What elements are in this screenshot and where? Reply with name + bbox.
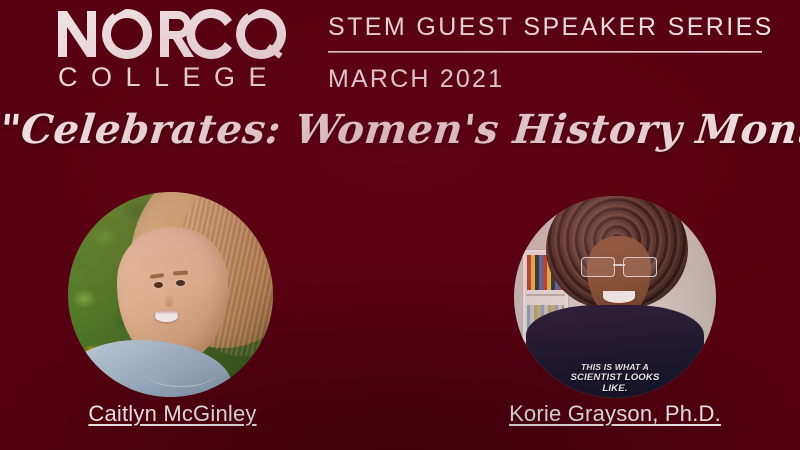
header-block: STEM GUEST SPEAKER SERIES MARCH 2021 xyxy=(328,14,764,93)
lens-right xyxy=(623,257,657,277)
necklace xyxy=(146,359,216,387)
eye-left xyxy=(154,282,163,288)
shelf-divider xyxy=(526,294,565,296)
speaker-photo-korie-grayson: THIS IS WHAT A SCIENTIST LOOKS LIKE. xyxy=(514,196,716,398)
series-title: STEM GUEST SPEAKER SERIES xyxy=(328,14,764,42)
eye-right xyxy=(176,280,185,286)
smile xyxy=(603,291,635,303)
smile xyxy=(155,311,178,322)
eyeglasses xyxy=(581,257,658,275)
speaker-photo-caitlyn-mcginley xyxy=(68,192,273,397)
tshirt-slogan-line-2: SCIENTIST LOOKS xyxy=(526,372,704,383)
eyebrow-left xyxy=(150,273,165,279)
tshirt-slogan-line-3: LIKE. xyxy=(526,383,704,394)
eyebrow-right xyxy=(172,271,188,276)
speaker-name-caitlyn-mcginley: Caitlyn McGinley xyxy=(60,401,285,427)
tagline-part-one: "Celebrates: Women's History Month" xyxy=(0,106,800,153)
glasses-bridge xyxy=(613,264,625,266)
logo-subtitle: COLLEGE xyxy=(56,64,286,91)
norco-wordmark xyxy=(56,8,286,60)
lens-left xyxy=(581,257,615,277)
tagline: "Celebrates: Women's History Month" xyxy=(0,106,800,153)
tshirt: THIS IS WHAT A SCIENTIST LOOKS LIKE. xyxy=(526,305,704,398)
header-divider xyxy=(328,51,762,53)
tshirt-slogan: THIS IS WHAT A SCIENTIST LOOKS LIKE. xyxy=(526,362,704,394)
speaker-name-korie-grayson: Korie Grayson, Ph.D. xyxy=(470,401,760,427)
tshirt-slogan-line-1: THIS IS WHAT A xyxy=(526,362,704,372)
event-flyer-slide: COLLEGE STEM GUEST SPEAKER SERIES MARCH … xyxy=(0,0,800,450)
nose xyxy=(165,294,173,306)
event-date: MARCH 2021 xyxy=(328,66,764,94)
norco-college-logo: COLLEGE xyxy=(56,8,286,91)
